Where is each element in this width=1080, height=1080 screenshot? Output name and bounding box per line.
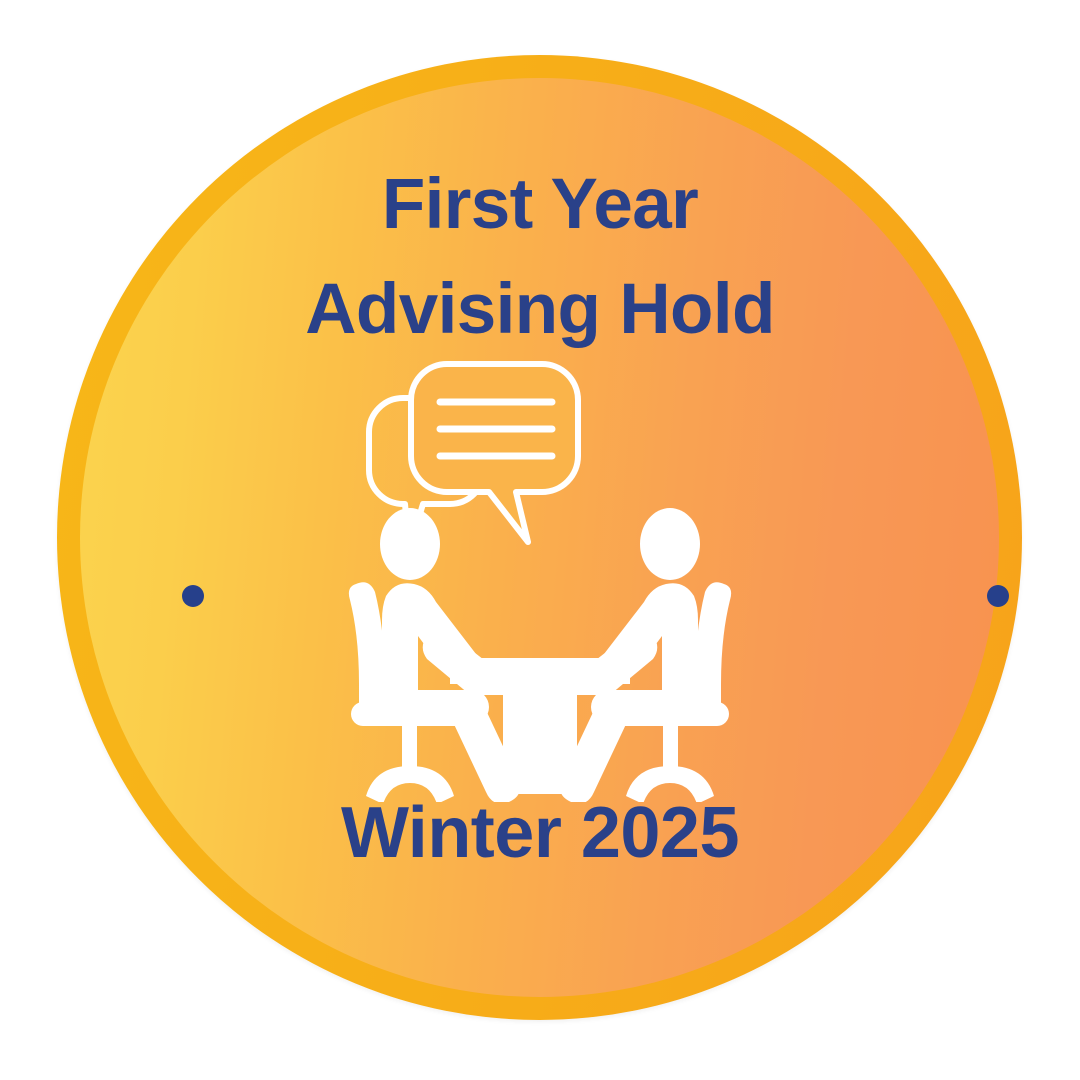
badge-term-label: Winter 2025 [0, 792, 1080, 874]
advising-meeting-icon [320, 352, 760, 802]
left-chair-back [349, 582, 385, 706]
advising-meeting-svg [320, 352, 760, 802]
right-chair-back [695, 582, 731, 706]
left-chair-post [402, 724, 417, 770]
badge-canvas: First Year Advising Hold [0, 0, 1080, 1080]
left-dot-icon [182, 585, 204, 607]
left-person-head [380, 508, 440, 580]
badge-outer-ring: First Year Advising Hold [57, 55, 1022, 1020]
right-chair-post [663, 724, 678, 770]
badge-title: First Year Advising Hold [0, 152, 1080, 362]
right-person-head [640, 508, 700, 580]
right-dot-icon [987, 585, 1009, 607]
